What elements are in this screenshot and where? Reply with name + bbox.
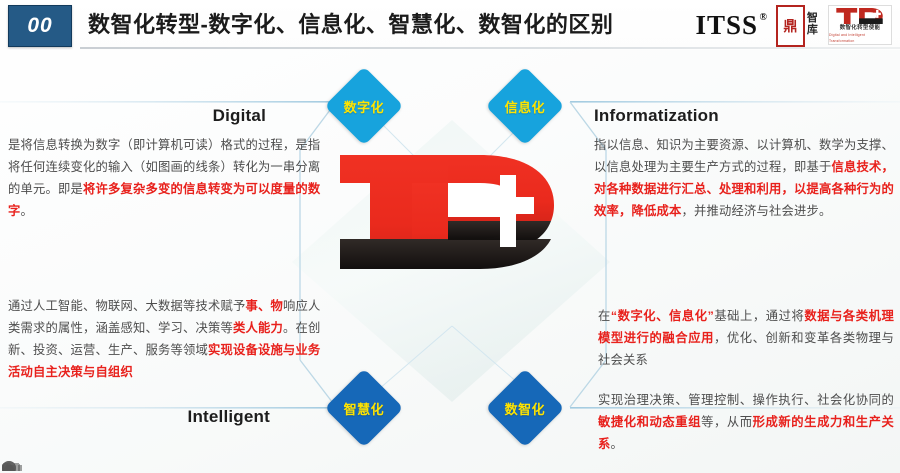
quadrant-top-right-title: Informatization (594, 106, 719, 126)
br-p1-plain-1: 在 (598, 309, 611, 323)
badge-digitalization-label: 数字化 (344, 96, 385, 115)
quadrant-bottom-left-title: Intelligent (188, 407, 270, 427)
br-p2-plain-1: 实现治理决策、管理控制、操作执行、社会化协同的 (598, 393, 894, 407)
registered-trademark-icon: ® (760, 12, 768, 23)
center-logo-dplus (330, 135, 575, 285)
quadrant-bottom-right-body-2: 实现治理决策、管理控制、操作执行、社会化协同的敏捷化和动态重组等，从而形成新的生… (598, 389, 894, 455)
badge-intelligentization-label: 智慧化 (344, 398, 385, 417)
seal-char-left: 鼎 (783, 21, 797, 32)
bl-text-red-2: 类人能力 (233, 321, 283, 335)
dplus-icon (330, 135, 575, 285)
itss-logo: ITSS® (695, 10, 768, 41)
br-p1-plain-2: 基础上，通过将 (714, 309, 804, 323)
tl-text-plain-2: 。 (21, 204, 34, 218)
quadrant-top-left-title: Digital (213, 106, 266, 126)
bl-text-plain-1: 通过人工智能、物联网、大数据等技术赋予 (8, 299, 245, 313)
slide-canvas: 00 数智化转型-数字化、信息化、智慧化、数智化的区别 ITSS® 鼎 智 库 (0, 0, 900, 473)
br-p2-red-1: 敏捷化和动态重组 (598, 415, 701, 429)
header-logo-group: ITSS® 鼎 智 库 (695, 3, 892, 47)
header-divider (80, 47, 900, 49)
bl-text-red-1: 事、物 (245, 299, 283, 313)
quadrant-bottom-right-body-1: 在“数字化、信息化”基础上，通过将数据与各类机理模型进行的融合应用，优化、创新和… (598, 305, 894, 371)
bottom-icon-strip (0, 459, 260, 473)
seal-char-top: 智 (807, 12, 818, 24)
diagram-area: 数字化 信息化 智慧化 数智化 Digital 是将信息转换为数字（即计算机可读… (0, 50, 900, 473)
itss-logo-text: ITSS (695, 10, 758, 40)
page-title: 数智化转型-数字化、信息化、智慧化、数智化的区别 (88, 8, 613, 42)
seal-stamp-icon: 鼎 (776, 5, 805, 47)
quadrant-top-right-body: 指以信息、知识为主要资源、以计算机、数学为支撑、以信息处理为主要生产方式的过程，… (594, 134, 894, 222)
badge-informatization-label: 信息化 (505, 96, 546, 115)
slide-header: 00 数智化转型-数字化、信息化、智慧化、数智化的区别 ITSS® 鼎 智 库 (0, 0, 900, 50)
seal-logo: 鼎 智 库 (776, 5, 820, 45)
td-logo-subtitle-en: Digital and Intelligent Transformation (829, 32, 891, 44)
badge-digital-intelligentization-label: 数智化 (505, 398, 546, 417)
seal-char-bottom: 库 (807, 24, 818, 36)
seal-side-chars: 智 库 (805, 5, 820, 43)
td-logo-subtitle-cn: 数智化转型使能 (840, 25, 881, 32)
br-p2-plain-2: 等，从而 (701, 415, 753, 429)
td-logo: 数智化转型使能 Digital and Intelligent Transfor… (828, 5, 892, 45)
quadrant-bottom-left-body: 通过人工智能、物联网、大数据等技术赋予事、物响应人类需求的属性，涵盖感知、学习、… (8, 295, 326, 383)
br-p1-red-1: “数字化、信息化” (611, 309, 714, 323)
td-mark-icon (834, 7, 886, 25)
br-p2-plain-3: 。 (611, 437, 624, 451)
quadrant-top-left-body: 是将信息转换为数字（即计算机可读）格式的过程，是指将任何连续变化的输入（如图画的… (8, 134, 326, 222)
circle-icon[interactable] (0, 459, 18, 471)
tr-text-plain-2: ，并推动经济与社会进步。 (681, 204, 831, 218)
slide-number-badge: 00 (8, 5, 72, 47)
slide-number-text: 00 (27, 14, 52, 38)
